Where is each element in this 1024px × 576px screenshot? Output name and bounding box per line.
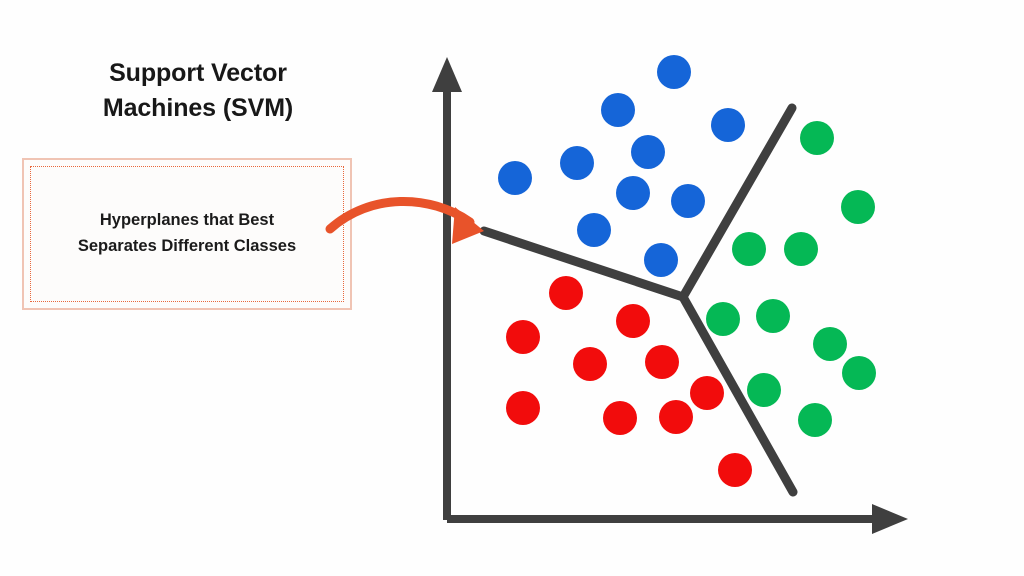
x-axis-arrowhead xyxy=(872,504,908,534)
class-blue-point xyxy=(657,55,691,89)
svm-scatter-plot xyxy=(0,0,1024,576)
class-blue-point xyxy=(601,93,635,127)
class-blue-point xyxy=(577,213,611,247)
class-blue-point xyxy=(644,243,678,277)
curved-callout-arrow xyxy=(330,201,484,244)
class-red-point xyxy=(616,304,650,338)
y-axis-arrowhead xyxy=(432,57,462,92)
class-green-point xyxy=(756,299,790,333)
class-blue-point xyxy=(711,108,745,142)
class-green-point xyxy=(800,121,834,155)
class-red-point xyxy=(603,401,637,435)
class-blue-point xyxy=(631,135,665,169)
curved-callout-arrow-head xyxy=(452,207,484,244)
class-green-point xyxy=(798,403,832,437)
class-green-point xyxy=(813,327,847,361)
class-red-point xyxy=(645,345,679,379)
class-red-point xyxy=(690,376,724,410)
class-green-point xyxy=(747,373,781,407)
class-red-point xyxy=(718,453,752,487)
class-blue-point xyxy=(671,184,705,218)
class-green-point xyxy=(732,232,766,266)
class-blue-point xyxy=(560,146,594,180)
class-blue-point xyxy=(616,176,650,210)
class-red-point xyxy=(659,400,693,434)
class-red-point xyxy=(506,391,540,425)
data-points xyxy=(498,55,876,487)
class-green-point xyxy=(842,356,876,390)
class-red-point xyxy=(506,320,540,354)
class-red-point xyxy=(573,347,607,381)
class-blue-point xyxy=(498,161,532,195)
class-red-point xyxy=(549,276,583,310)
class-green-point xyxy=(841,190,875,224)
class-green-point xyxy=(706,302,740,336)
class-green-point xyxy=(784,232,818,266)
slide-canvas: Support Vector Machines (SVM) Hyperplane… xyxy=(0,0,1024,576)
